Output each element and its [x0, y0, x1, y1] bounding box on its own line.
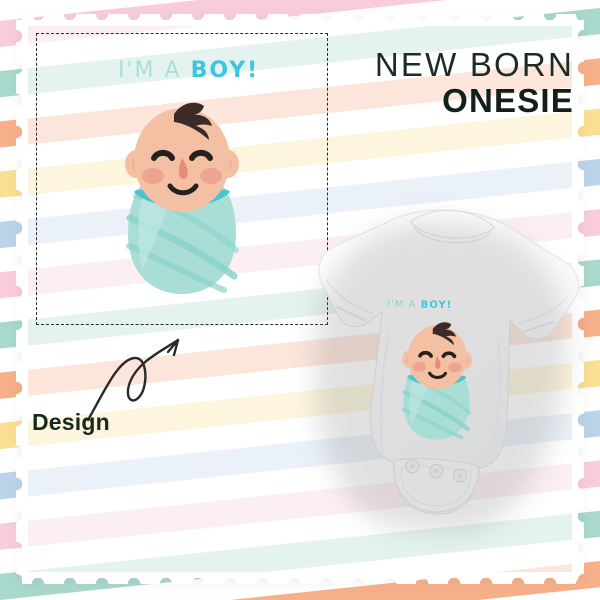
slogan-text: I'M A BOY!	[118, 58, 259, 83]
heading-line-1: NEW BORN	[364, 48, 574, 83]
print-slogan: I'M A BOY!	[387, 299, 452, 311]
card-edge-top	[22, 14, 578, 26]
cheek-right	[200, 168, 222, 184]
heading-line-2: ONESIE	[364, 83, 574, 120]
cheek-left	[142, 168, 164, 184]
print-slogan-part-2: BOY!	[421, 300, 453, 312]
print-slogan-part-1: I'M A	[387, 299, 417, 311]
slogan-part-2: BOY!	[191, 58, 260, 83]
onesie-print: I'M A BOY!	[379, 299, 502, 451]
card-edge-bottom	[22, 572, 578, 584]
card-edge-left	[16, 20, 28, 578]
onesie-mockup[interactable]: I'M A BOY!	[284, 186, 598, 560]
slogan-part-1: I'M A	[118, 58, 182, 83]
baby-illustration-large	[112, 100, 252, 300]
baby-illustration-print	[393, 319, 481, 444]
poster-canvas: I'M A BOY! NEW	[0, 0, 600, 600]
design-annotation-label: Design	[32, 409, 110, 436]
poster-heading: NEW BORN ONESIE	[364, 48, 574, 120]
